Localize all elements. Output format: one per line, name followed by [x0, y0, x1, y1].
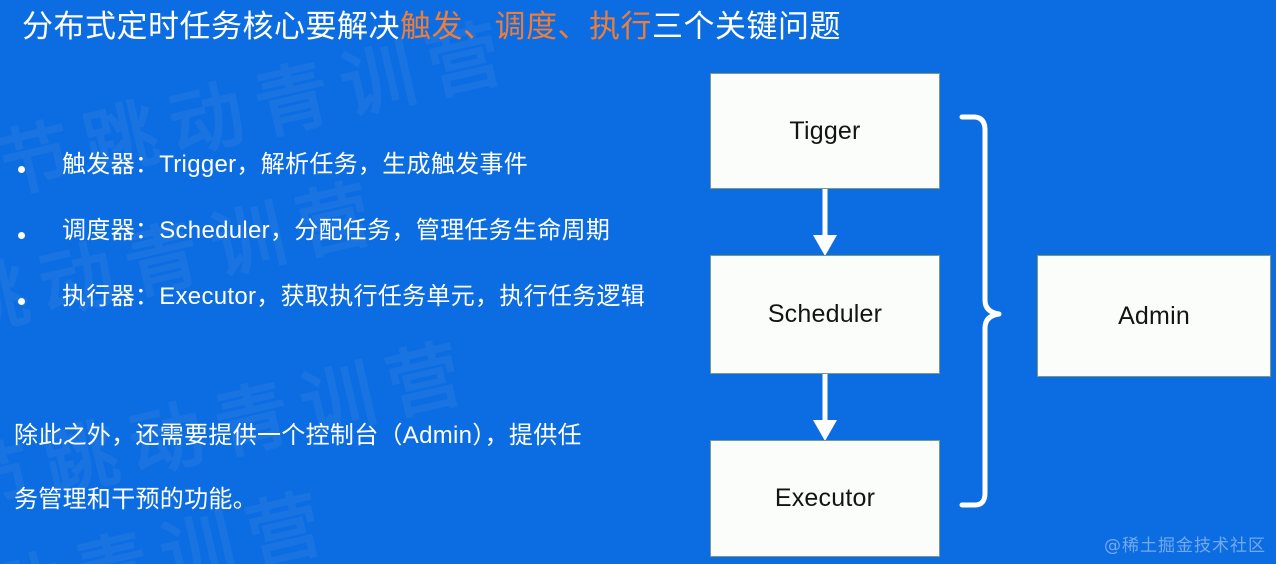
architecture-diagram: Tigger Scheduler Executor Admin — [0, 0, 1276, 564]
slide-root: 字节跳动青训营 字节跳动青训营 字节跳动青训营 字节跳动青训营 分布式定时任务核… — [0, 0, 1276, 564]
diagram-node-trigger[interactable]: Tigger — [710, 73, 940, 189]
diagram-node-executor[interactable]: Executor — [710, 440, 940, 557]
node-label: Tigger — [789, 117, 860, 146]
diagram-node-scheduler[interactable]: Scheduler — [710, 255, 940, 374]
curly-brace-icon — [962, 117, 999, 505]
arrow-trigger-to-scheduler — [813, 189, 837, 256]
node-label: Admin — [1118, 302, 1190, 331]
corner-watermark: @稀土掘金技术社区 — [1104, 531, 1266, 556]
arrow-scheduler-to-executor — [813, 374, 837, 441]
node-label: Scheduler — [768, 300, 882, 329]
diagram-node-admin[interactable]: Admin — [1037, 255, 1271, 377]
node-label: Executor — [775, 484, 875, 513]
